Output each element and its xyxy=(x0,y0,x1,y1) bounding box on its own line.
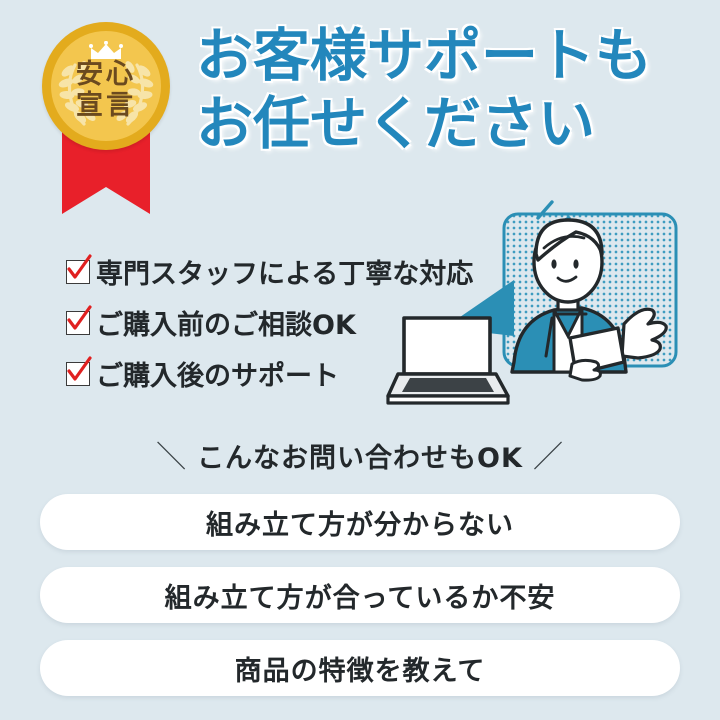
pill-label: 組み立て方が合っているか不安 xyxy=(165,576,556,615)
headline-line-2: お任せください xyxy=(196,90,652,158)
list-item: ご購入前のご相談OK xyxy=(66,301,473,344)
pill-label: 組み立て方が分からない xyxy=(206,503,514,542)
checkbox-checked-icon xyxy=(66,260,90,284)
list-item: ご購入後のサポート xyxy=(66,352,473,395)
faq-pill-list: 組み立て方が分からない 組み立て方が合っているか不安 商品の特徴を教えて xyxy=(40,494,680,713)
checklist-item-label: ご購入前のご相談OK xyxy=(96,303,356,342)
slash-right-icon: ／ xyxy=(523,432,574,476)
checklist-item-label: 専門スタッフによる丁寧な対応 xyxy=(96,252,473,291)
list-item[interactable]: 組み立て方が合っているか不安 xyxy=(40,567,680,623)
checklist-item-label: ご購入後のサポート xyxy=(96,354,339,393)
medal-outer-ring: 安心 宣言 xyxy=(42,22,170,150)
page-title: お客様サポートも お任せください xyxy=(196,22,652,158)
feature-checklist: 専門スタッフによる丁寧な対応 ご購入前のご相談OK ご購入後のサポート xyxy=(66,250,473,403)
medal-text: 安心 宣言 xyxy=(51,59,161,121)
list-item[interactable]: 商品の特徴を教えて xyxy=(40,640,680,696)
list-item: 専門スタッフによる丁寧な対応 xyxy=(66,250,473,293)
subhead-label: こんなお問い合わせもOK xyxy=(197,443,523,474)
list-item[interactable]: 組み立て方が分からない xyxy=(40,494,680,550)
checkbox-checked-icon xyxy=(66,311,90,335)
medal-text-line2: 宣言 xyxy=(51,90,161,121)
subhead: ＼こんなお問い合わせもOK／ xyxy=(0,432,720,476)
anshin-sengen-medal: 安心 宣言 xyxy=(36,14,176,214)
medal-inner-disc: 安心 宣言 xyxy=(51,31,161,141)
crown-icon xyxy=(89,41,123,61)
slash-left-icon: ＼ xyxy=(146,432,197,476)
customer-support-banner: 安心 宣言 お客様サポートも お任せください 専門スタッフによる丁寧な対応 xyxy=(0,0,720,720)
checkbox-checked-icon xyxy=(66,362,90,386)
headline-line-1: お客様サポートも xyxy=(196,22,652,90)
pill-label: 商品の特徴を教えて xyxy=(235,649,486,688)
medal-text-line1: 安心 xyxy=(51,59,161,90)
